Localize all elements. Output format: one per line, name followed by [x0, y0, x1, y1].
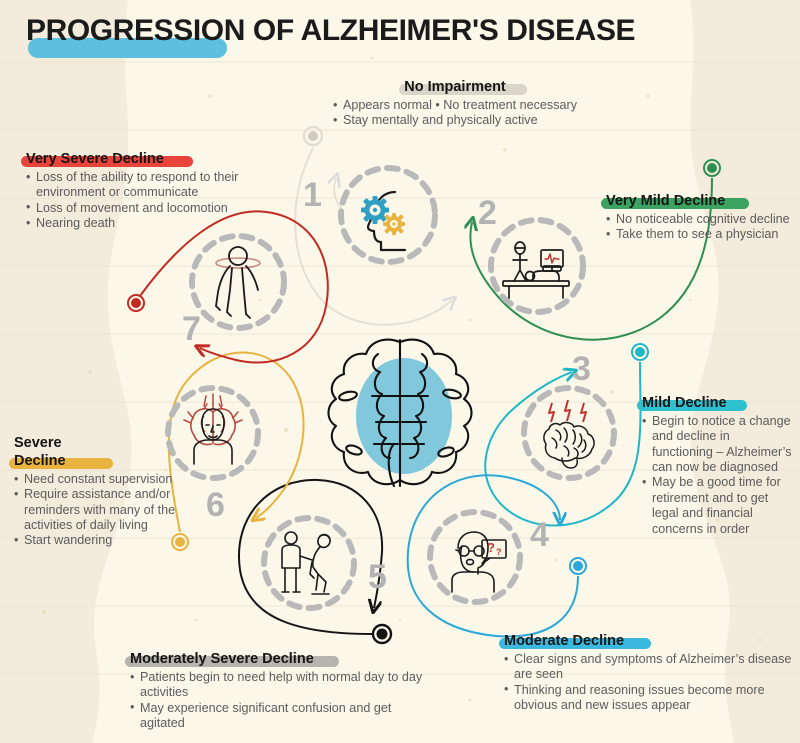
- stage-4-text-block: Moderate Decline Clear signs and symptom…: [504, 632, 796, 713]
- gear-blue: [361, 196, 389, 224]
- list-item: Loss of movement and locomotion: [26, 201, 296, 216]
- stage-2-bullets: No noticeable cognitive decline Take the…: [606, 212, 796, 243]
- stage-4-bullets: Clear signs and symptoms of Alzheimer’s …: [504, 652, 796, 713]
- stage-2-text-block: Very Mild Decline No noticeable cognitiv…: [606, 192, 796, 243]
- person-with-halo-icon: [186, 230, 290, 334]
- head-with-gears-icon: [335, 162, 441, 268]
- stage-3-heading: Mild Decline: [642, 394, 727, 412]
- question-marks: ? ?: [487, 540, 502, 557]
- stage-5-number: 5: [368, 560, 387, 594]
- list-item: Start wandering: [14, 533, 176, 548]
- stage-1-heading-text: No Impairment: [404, 79, 506, 95]
- list-item: Require assistance and/or reminders with…: [14, 487, 176, 533]
- list-item: Nearing death: [26, 216, 296, 231]
- stage-6-node[interactable]: [162, 382, 264, 484]
- stage-6-heading: Severe Decline: [14, 434, 114, 470]
- stage-3-number: 3: [572, 352, 591, 386]
- stage-7-node[interactable]: [186, 230, 290, 334]
- stage-5-text-block: Moderately Severe Decline Patients begin…: [130, 650, 430, 731]
- gear-yellow: [383, 213, 405, 235]
- svg-text:?: ?: [496, 547, 502, 557]
- svg-text:?: ?: [487, 540, 495, 555]
- stage-5-heading-text: Moderately Severe Decline: [130, 651, 314, 667]
- list-item: No noticeable cognitive decline: [606, 212, 796, 227]
- list-item: Loss of the ability to respond to their …: [26, 170, 296, 201]
- stage-1-bullets: Appears normal • No treatment necessary …: [333, 98, 577, 129]
- list-item: Thinking and reasoning issues become mor…: [504, 683, 796, 714]
- stage-6-bullets: Need constant supervision Require assist…: [14, 472, 176, 549]
- head-brain-pain-icon: [162, 382, 264, 484]
- list-item: May experience significant confusion and…: [130, 701, 430, 732]
- caregiver-assisting-icon: [258, 512, 360, 614]
- stage-7-heading: Very Severe Decline: [26, 150, 164, 168]
- list-item: Take them to see a physician: [606, 227, 796, 242]
- stage-1-node[interactable]: [335, 162, 441, 268]
- stage-4-number: 4: [530, 518, 549, 552]
- list-item: Clear signs and symptoms of Alzheimer’s …: [504, 652, 796, 683]
- stage-4-node[interactable]: ? ?: [424, 506, 526, 608]
- stage-2-node[interactable]: [485, 214, 589, 318]
- page-title: PROGRESSION OF ALZHEIMER'S DISEASE: [26, 14, 635, 48]
- stage-7-text-block: Very Severe Decline Loss of the ability …: [26, 150, 296, 231]
- list-item: Need constant supervision: [14, 472, 176, 487]
- stage-7-number: 7: [182, 312, 201, 346]
- brain-lightning-icon: [518, 382, 620, 484]
- stage-5-node[interactable]: [258, 512, 360, 614]
- stage-4-heading: Moderate Decline: [504, 632, 624, 650]
- stage-2-heading: Very Mild Decline: [606, 192, 725, 210]
- stage-4-heading-text: Moderate Decline: [504, 633, 624, 649]
- stage-6-number: 6: [206, 488, 225, 522]
- stage-6-text-block: Severe Decline Need constant supervision…: [14, 434, 176, 549]
- central-brain-illustration: [316, 334, 484, 504]
- list-item: Begin to notice a change and decline in …: [642, 414, 794, 475]
- stage-1-text-block: No Impairment Appears normal • No treatm…: [300, 78, 610, 129]
- stage-2-heading-text: Very Mild Decline: [606, 193, 725, 209]
- stage-1-number: 1: [303, 178, 322, 212]
- stage-3-node[interactable]: [518, 382, 620, 484]
- stage-3-bullets: Begin to notice a change and decline in …: [642, 414, 794, 537]
- stage-1-heading: No Impairment: [404, 78, 506, 96]
- stage-3-text-block: Mild Decline Begin to notice a change an…: [642, 394, 794, 537]
- lightning-bolts: [549, 400, 586, 422]
- stage-7-bullets: Loss of the ability to respond to their …: [26, 170, 296, 231]
- doctor-exam-icon: [485, 214, 589, 318]
- stage-5-heading: Moderately Severe Decline: [130, 650, 314, 668]
- list-item: Patients begin to need help with normal …: [130, 670, 430, 701]
- stage-7-heading-text: Very Severe Decline: [26, 151, 164, 167]
- confused-person-icon: ? ?: [424, 506, 526, 608]
- stage-2-number: 2: [478, 196, 497, 230]
- list-item: Appears normal • No treatment necessary: [333, 98, 577, 113]
- page-title-text: PROGRESSION OF ALZHEIMER'S DISEASE: [26, 14, 635, 48]
- stage-5-bullets: Patients begin to need help with normal …: [130, 670, 430, 731]
- stage-6-heading-text: Severe Decline: [14, 435, 66, 469]
- list-item: Stay mentally and physically active: [333, 113, 577, 128]
- stage-3-heading-text: Mild Decline: [642, 395, 727, 411]
- list-item: May be a good time for retirement and to…: [642, 475, 794, 536]
